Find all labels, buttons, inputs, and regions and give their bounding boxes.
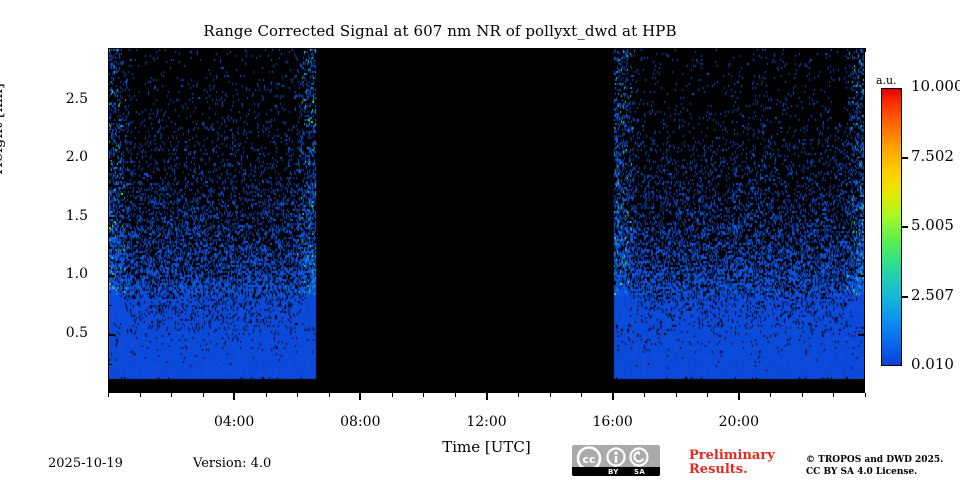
x-tick-mark — [486, 393, 488, 400]
x-tick-mark — [359, 393, 361, 400]
x-minor-tick — [423, 48, 424, 52]
y-tick-label-1.5: 1.5 — [28, 209, 88, 223]
x-minor-tick — [644, 393, 645, 397]
copyright-line-2: CC BY SA 4.0 License. — [806, 466, 943, 478]
y-tick-mark — [108, 217, 115, 219]
colorbar-tick-10.000: 10.000 — [911, 79, 960, 94]
x-minor-tick — [550, 48, 551, 52]
x-minor-tick — [581, 393, 582, 397]
x-minor-tick — [550, 393, 551, 397]
y-minor-tick — [108, 305, 112, 306]
x-minor-tick — [423, 393, 424, 397]
y-minor-tick — [108, 364, 112, 365]
colorbar-gradient — [881, 88, 902, 366]
x-tick-label-0400: 04:00 — [194, 415, 274, 429]
y-tick-label-0.5: 0.5 — [28, 326, 88, 340]
x-tick-mark — [233, 48, 235, 55]
x-minor-tick — [833, 393, 834, 397]
preliminary-results-notice: Preliminary Results. — [689, 449, 775, 477]
x-minor-tick — [455, 48, 456, 52]
x-minor-tick — [865, 48, 866, 52]
x-minor-tick — [802, 48, 803, 52]
y-tick-label-2.0: 2.0 — [28, 150, 88, 164]
x-minor-tick — [833, 48, 834, 52]
x-minor-tick — [171, 393, 172, 397]
x-tick-mark — [738, 48, 740, 55]
svg-text:cc: cc — [582, 453, 595, 466]
preliminary-line-2: Results. — [689, 463, 775, 477]
x-minor-tick — [329, 393, 330, 397]
y-minor-tick — [108, 188, 112, 189]
x-minor-tick — [203, 393, 204, 397]
x-tick-label-1600: 16:00 — [573, 415, 653, 429]
y-tick-mark — [108, 158, 115, 160]
x-minor-tick — [676, 393, 677, 397]
y-tick-mark — [858, 275, 865, 277]
y-tick-label-1.0: 1.0 — [28, 267, 88, 281]
x-minor-tick — [518, 393, 519, 397]
y-minor-tick — [108, 247, 112, 248]
colorbar-tick-mark — [902, 157, 908, 159]
x-minor-tick — [140, 393, 141, 397]
y-minor-tick — [108, 130, 112, 131]
x-tick-label-0800: 08:00 — [320, 415, 400, 429]
colorbar-tick-mark — [902, 226, 908, 228]
colorbar-tick-7.502: 7.502 — [911, 149, 954, 164]
x-tick-label-2000: 20:00 — [699, 415, 779, 429]
x-minor-tick — [297, 393, 298, 397]
cc-by-label: BY — [608, 468, 619, 476]
colorbar-tick-0.010: 0.010 — [911, 357, 954, 372]
x-minor-tick — [644, 48, 645, 52]
y-tick-mark — [858, 100, 865, 102]
x-minor-tick — [518, 48, 519, 52]
heatmap-plot-area[interactable] — [108, 48, 865, 393]
y-tick-mark — [858, 217, 865, 219]
cc-license-badge[interactable]: cc BY SA — [572, 445, 660, 476]
colorbar-tick-2.507: 2.507 — [911, 288, 954, 303]
x-minor-tick — [676, 48, 677, 52]
y-tick-mark — [108, 100, 115, 102]
x-minor-tick — [802, 393, 803, 397]
colorbar-tick-5.005: 5.005 — [911, 218, 954, 233]
copyright-line-1: © TROPOS and DWD 2025. — [806, 454, 943, 466]
colorbar[interactable] — [881, 88, 902, 366]
x-minor-tick — [329, 48, 330, 52]
y-minor-tick — [108, 71, 112, 72]
x-minor-tick — [108, 393, 109, 397]
x-minor-tick — [297, 48, 298, 52]
footer-version: Version: 4.0 — [193, 456, 271, 471]
y-tick-label-2.5: 2.5 — [28, 92, 88, 106]
colorbar-unit-label: a.u. — [876, 74, 897, 87]
x-minor-tick — [865, 393, 866, 397]
x-minor-tick — [770, 393, 771, 397]
footer-date: 2025-10-19 — [48, 456, 123, 471]
x-minor-tick — [108, 48, 109, 52]
preliminary-line-1: Preliminary — [689, 449, 775, 463]
range-corrected-signal-heatmap — [109, 49, 865, 393]
x-tick-mark — [486, 48, 488, 55]
x-tick-mark — [359, 48, 361, 55]
x-minor-tick — [266, 393, 267, 397]
copyright-notice: © TROPOS and DWD 2025. CC BY SA 4.0 Lice… — [806, 454, 943, 478]
x-minor-tick — [266, 48, 267, 52]
x-minor-tick — [140, 48, 141, 52]
y-tick-mark — [858, 158, 865, 160]
x-minor-tick — [707, 393, 708, 397]
x-minor-tick — [203, 48, 204, 52]
y-tick-mark — [108, 275, 115, 277]
cc-sa-label: SA — [634, 468, 645, 476]
x-minor-tick — [392, 393, 393, 397]
x-minor-tick — [707, 48, 708, 52]
y-tick-mark — [858, 334, 865, 336]
x-tick-mark — [612, 48, 614, 55]
y-axis-label: Height [km] — [0, 83, 6, 175]
page-title: Range Corrected Signal at 607 nm NR of p… — [0, 22, 880, 40]
x-minor-tick — [581, 48, 582, 52]
x-tick-label-1200: 12:00 — [447, 415, 527, 429]
x-tick-mark — [738, 393, 740, 400]
x-minor-tick — [392, 48, 393, 52]
x-minor-tick — [455, 393, 456, 397]
colorbar-tick-mark — [902, 296, 908, 298]
x-tick-mark — [612, 393, 614, 400]
x-minor-tick — [770, 48, 771, 52]
x-tick-mark — [233, 393, 235, 400]
y-tick-mark — [108, 334, 115, 336]
x-minor-tick — [171, 48, 172, 52]
